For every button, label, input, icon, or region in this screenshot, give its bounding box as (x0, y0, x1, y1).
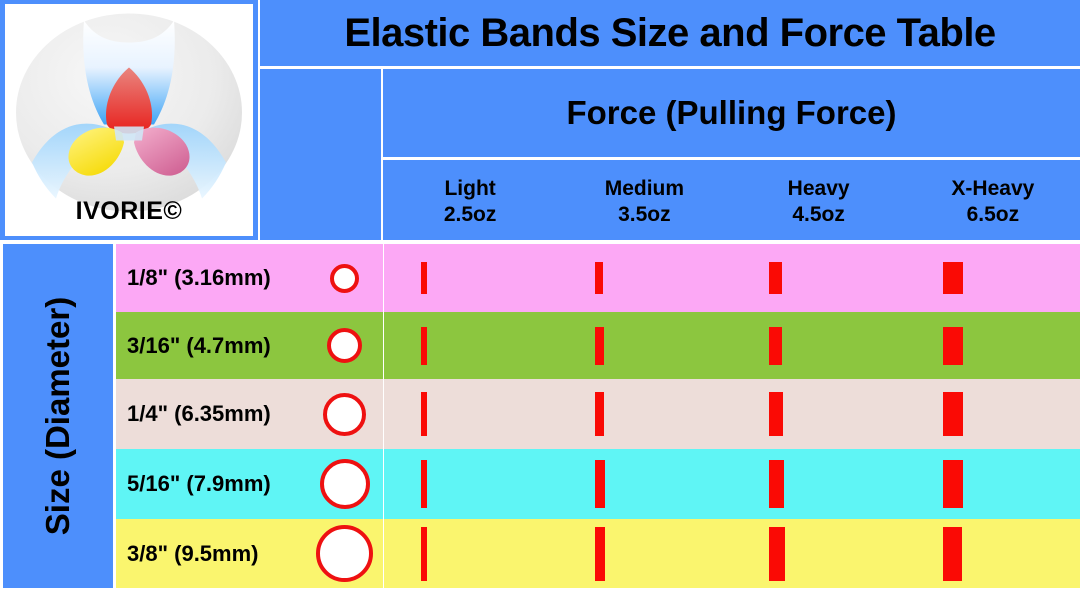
force-bar (943, 527, 962, 581)
force-bar-cell-heavy (732, 379, 906, 449)
bottom-margin (0, 590, 1080, 598)
tooth-flower-logo-icon (14, 13, 244, 218)
force-bar (769, 327, 782, 365)
force-bar-cell-x-heavy (906, 449, 1080, 519)
page-title-text: Elastic Bands Size and Force Table (344, 11, 995, 56)
force-bar-cell-light (384, 312, 558, 379)
force-bar (421, 262, 427, 294)
elastic-bands-table-page: IVORIE© Elastic Bands Size and Force Tab… (0, 0, 1080, 598)
force-column-name: X-Heavy (951, 176, 1034, 202)
brand-logo-inner: IVORIE© (5, 4, 253, 236)
force-column-value: 6.5oz (967, 202, 1020, 228)
force-bar (769, 527, 785, 581)
force-column-name: Light (444, 176, 495, 202)
force-bar-cell-light (384, 449, 558, 519)
size-label: 1/8" (3.16mm) (116, 265, 306, 291)
force-bar (595, 392, 604, 436)
band-diameter-circle-icon (323, 393, 366, 436)
force-column-header-light: Light2.5oz (383, 160, 557, 240)
force-bar (421, 327, 427, 365)
force-bar-cell-heavy (732, 244, 906, 312)
force-bar-cell-x-heavy (906, 379, 1080, 449)
force-bar-cell-medium (558, 449, 732, 519)
force-bar-cell-light (384, 379, 558, 449)
band-diameter-circle-cell (306, 393, 383, 436)
table-row: 3/16" (4.7mm) (116, 312, 1080, 379)
force-bars (384, 519, 1080, 588)
force-bar (595, 327, 604, 365)
size-label: 1/4" (6.35mm) (116, 401, 306, 427)
force-bar (595, 527, 605, 581)
force-bar-cell-x-heavy (906, 312, 1080, 379)
force-bar (943, 262, 963, 294)
band-diameter-circle-icon (316, 525, 373, 582)
force-column-header-medium: Medium3.5oz (557, 160, 731, 240)
force-bar (943, 460, 963, 508)
page-title: Elastic Bands Size and Force Table (260, 0, 1080, 66)
header-spacer-cell (260, 69, 381, 240)
force-bar (421, 392, 427, 436)
brand-name: IVORIE© (5, 197, 253, 226)
force-bar-cell-heavy (732, 312, 906, 379)
force-bar-cell-medium (558, 312, 732, 379)
force-bar (421, 460, 427, 508)
force-bar-cell-light (384, 519, 558, 588)
force-column-value: 4.5oz (792, 202, 845, 228)
force-column-header-heavy: Heavy4.5oz (732, 160, 906, 240)
force-bars (384, 379, 1080, 449)
size-label: 3/16" (4.7mm) (116, 333, 306, 359)
force-bar-cell-light (384, 244, 558, 312)
size-group-header-text: Size (Diameter) (39, 297, 77, 535)
table-body: 1/8" (3.16mm)3/16" (4.7mm)1/4" (6.35mm)5… (116, 244, 1080, 588)
force-bar (769, 392, 783, 436)
force-bars (384, 449, 1080, 519)
force-column-value: 2.5oz (444, 202, 497, 228)
force-column-headers: Light2.5ozMedium3.5ozHeavy4.5ozX-Heavy6.… (383, 160, 1080, 240)
force-group-header: Force (Pulling Force) (383, 69, 1080, 157)
force-bars (384, 312, 1080, 379)
force-column-header-x-heavy: X-Heavy6.5oz (906, 160, 1080, 240)
force-bar (421, 527, 427, 581)
force-bar-cell-x-heavy (906, 519, 1080, 588)
size-label: 5/16" (7.9mm) (116, 471, 306, 497)
table-row: 1/8" (3.16mm) (116, 244, 1080, 312)
force-column-name: Medium (605, 176, 684, 202)
force-bar (769, 460, 784, 508)
band-diameter-circle-cell (306, 459, 383, 509)
table-row: 1/4" (6.35mm) (116, 379, 1080, 449)
size-label: 3/8" (9.5mm) (116, 541, 306, 567)
band-diameter-circle-icon (330, 264, 359, 293)
force-bar (595, 460, 605, 508)
force-group-header-text: Force (Pulling Force) (566, 94, 896, 132)
force-bars (384, 244, 1080, 312)
force-bar (595, 262, 603, 294)
force-bar-cell-medium (558, 519, 732, 588)
force-bar-cell-medium (558, 379, 732, 449)
force-column-value: 3.5oz (618, 202, 671, 228)
band-diameter-circle-icon (320, 459, 370, 509)
table-row: 5/16" (7.9mm) (116, 449, 1080, 519)
force-bar-cell-heavy (732, 519, 906, 588)
band-diameter-circle-cell (306, 328, 383, 363)
size-group-header: Size (Diameter) (3, 244, 113, 588)
force-bar (943, 327, 963, 365)
brand-logo-box: IVORIE© (0, 0, 258, 240)
force-column-name: Heavy (788, 176, 850, 202)
force-bar-cell-heavy (732, 449, 906, 519)
force-bar (769, 262, 782, 294)
force-bar (943, 392, 963, 436)
table-row: 3/8" (9.5mm) (116, 519, 1080, 588)
band-diameter-circle-cell (306, 264, 383, 293)
band-diameter-circle-icon (327, 328, 362, 363)
force-bar-cell-medium (558, 244, 732, 312)
force-bar-cell-x-heavy (906, 244, 1080, 312)
band-diameter-circle-cell (306, 525, 383, 582)
left-margin (0, 240, 3, 598)
